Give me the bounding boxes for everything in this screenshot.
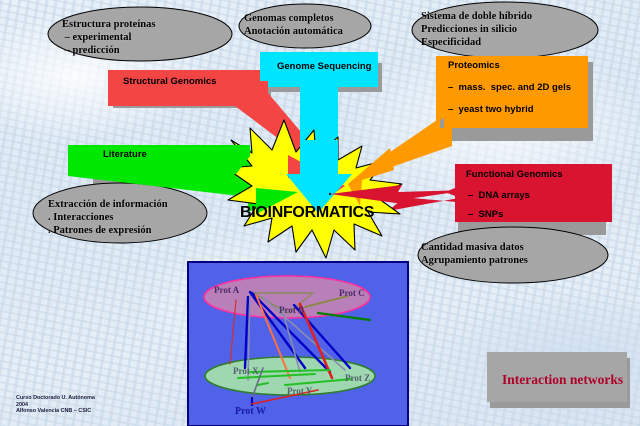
slide-canvas: Estructura proteínas – experimental – pr… (0, 0, 640, 426)
cloud-information-extraction (33, 183, 207, 243)
box-literature[interactable] (68, 145, 250, 174)
cloud-structure-proteins (48, 7, 232, 61)
interaction-network-diagram[interactable] (188, 262, 408, 426)
box-functional-genomics[interactable] (445, 164, 612, 222)
cloud-massive-data (418, 227, 608, 283)
cloud-complete-genomes (239, 4, 371, 48)
box-structural-genomics[interactable] (108, 70, 268, 104)
interaction-networks-plate (487, 352, 627, 402)
star-center-dot (329, 193, 331, 195)
box-proteomics[interactable] (436, 56, 588, 128)
box-genome-sequencing[interactable] (260, 52, 378, 81)
diagram-svg (0, 0, 640, 426)
cloud-two-hybrid-system (412, 2, 598, 58)
